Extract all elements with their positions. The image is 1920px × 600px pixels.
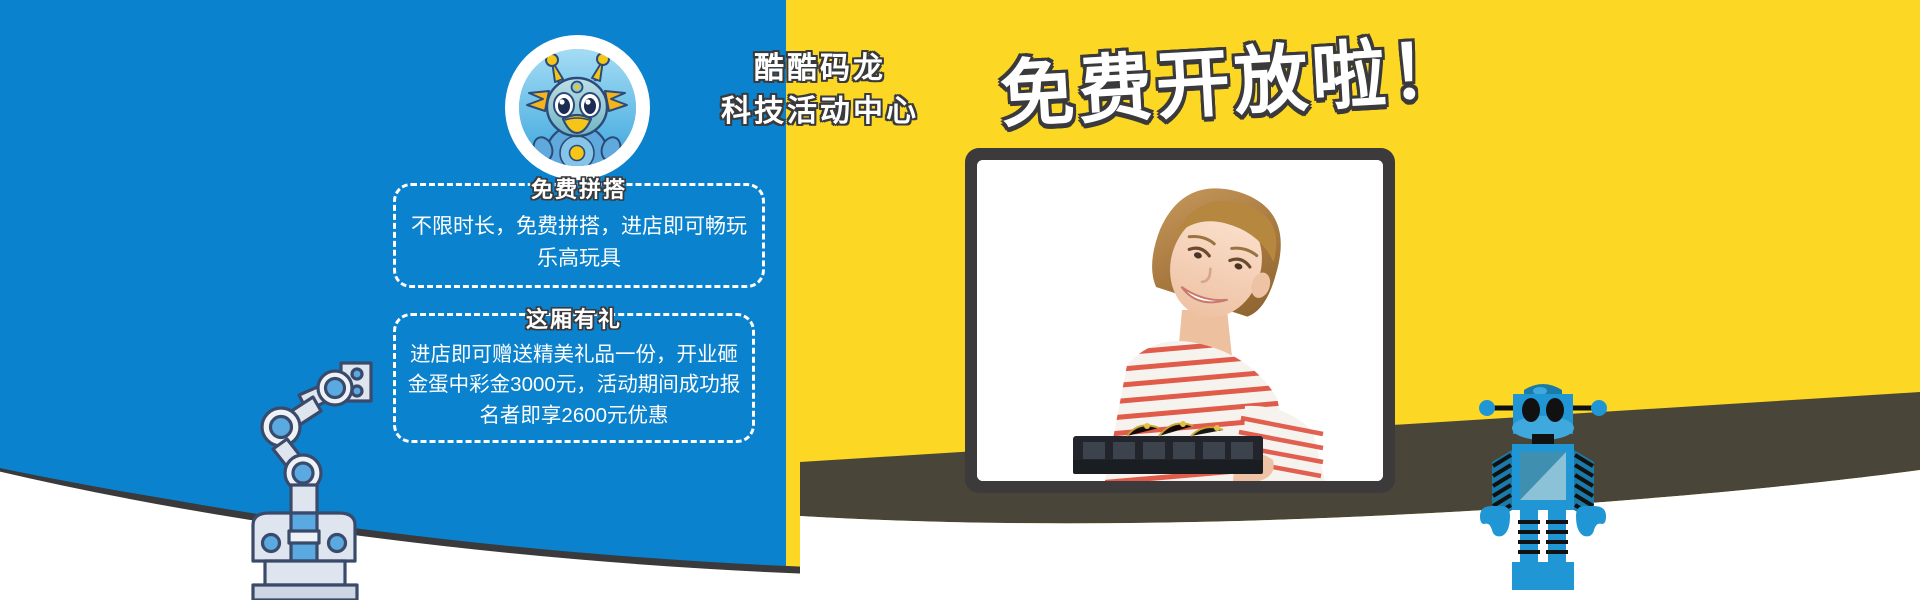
logo-inner-circle xyxy=(519,49,636,166)
toy-robot-icon xyxy=(1468,370,1618,600)
girl-building-electronics-photo xyxy=(977,160,1383,481)
logo-text-line2: 科技活动中心 xyxy=(690,91,950,134)
dragon-mascot-icon xyxy=(519,49,636,166)
robotic-arm-icon xyxy=(225,355,375,600)
promo-banner: 酷酷码龙 科技活动中心 免费开放啦！ 免费拼搭 不限时长，免费拼搭，进店即可畅玩… xyxy=(0,0,1920,600)
photo-frame xyxy=(965,148,1200,600)
photo-frame-border xyxy=(965,148,1395,493)
info-box-free-build: 免费拼搭 不限时长，免费拼搭，进店即可畅玩乐高玩具 xyxy=(393,183,765,288)
info-box-body: 进店即可赠送精美礼品一份，开业砸金蛋中彩金3000元，活动期间成功报名者即享26… xyxy=(396,340,752,431)
logo xyxy=(505,35,650,180)
logo-text-line1: 酷酷码龙 xyxy=(690,48,950,91)
info-box-title: 免费拼搭 xyxy=(396,172,762,204)
logo-text: 酷酷码龙 科技活动中心 xyxy=(690,48,950,133)
photo-image-container xyxy=(977,160,1383,481)
info-box-title: 这厢有礼 xyxy=(396,302,752,334)
info-box-body: 不限时长，免费拼搭，进店即可畅玩乐高玩具 xyxy=(396,211,762,274)
info-box-gift: 这厢有礼 进店即可赠送精美礼品一份，开业砸金蛋中彩金3000元，活动期间成功报名… xyxy=(393,313,755,443)
